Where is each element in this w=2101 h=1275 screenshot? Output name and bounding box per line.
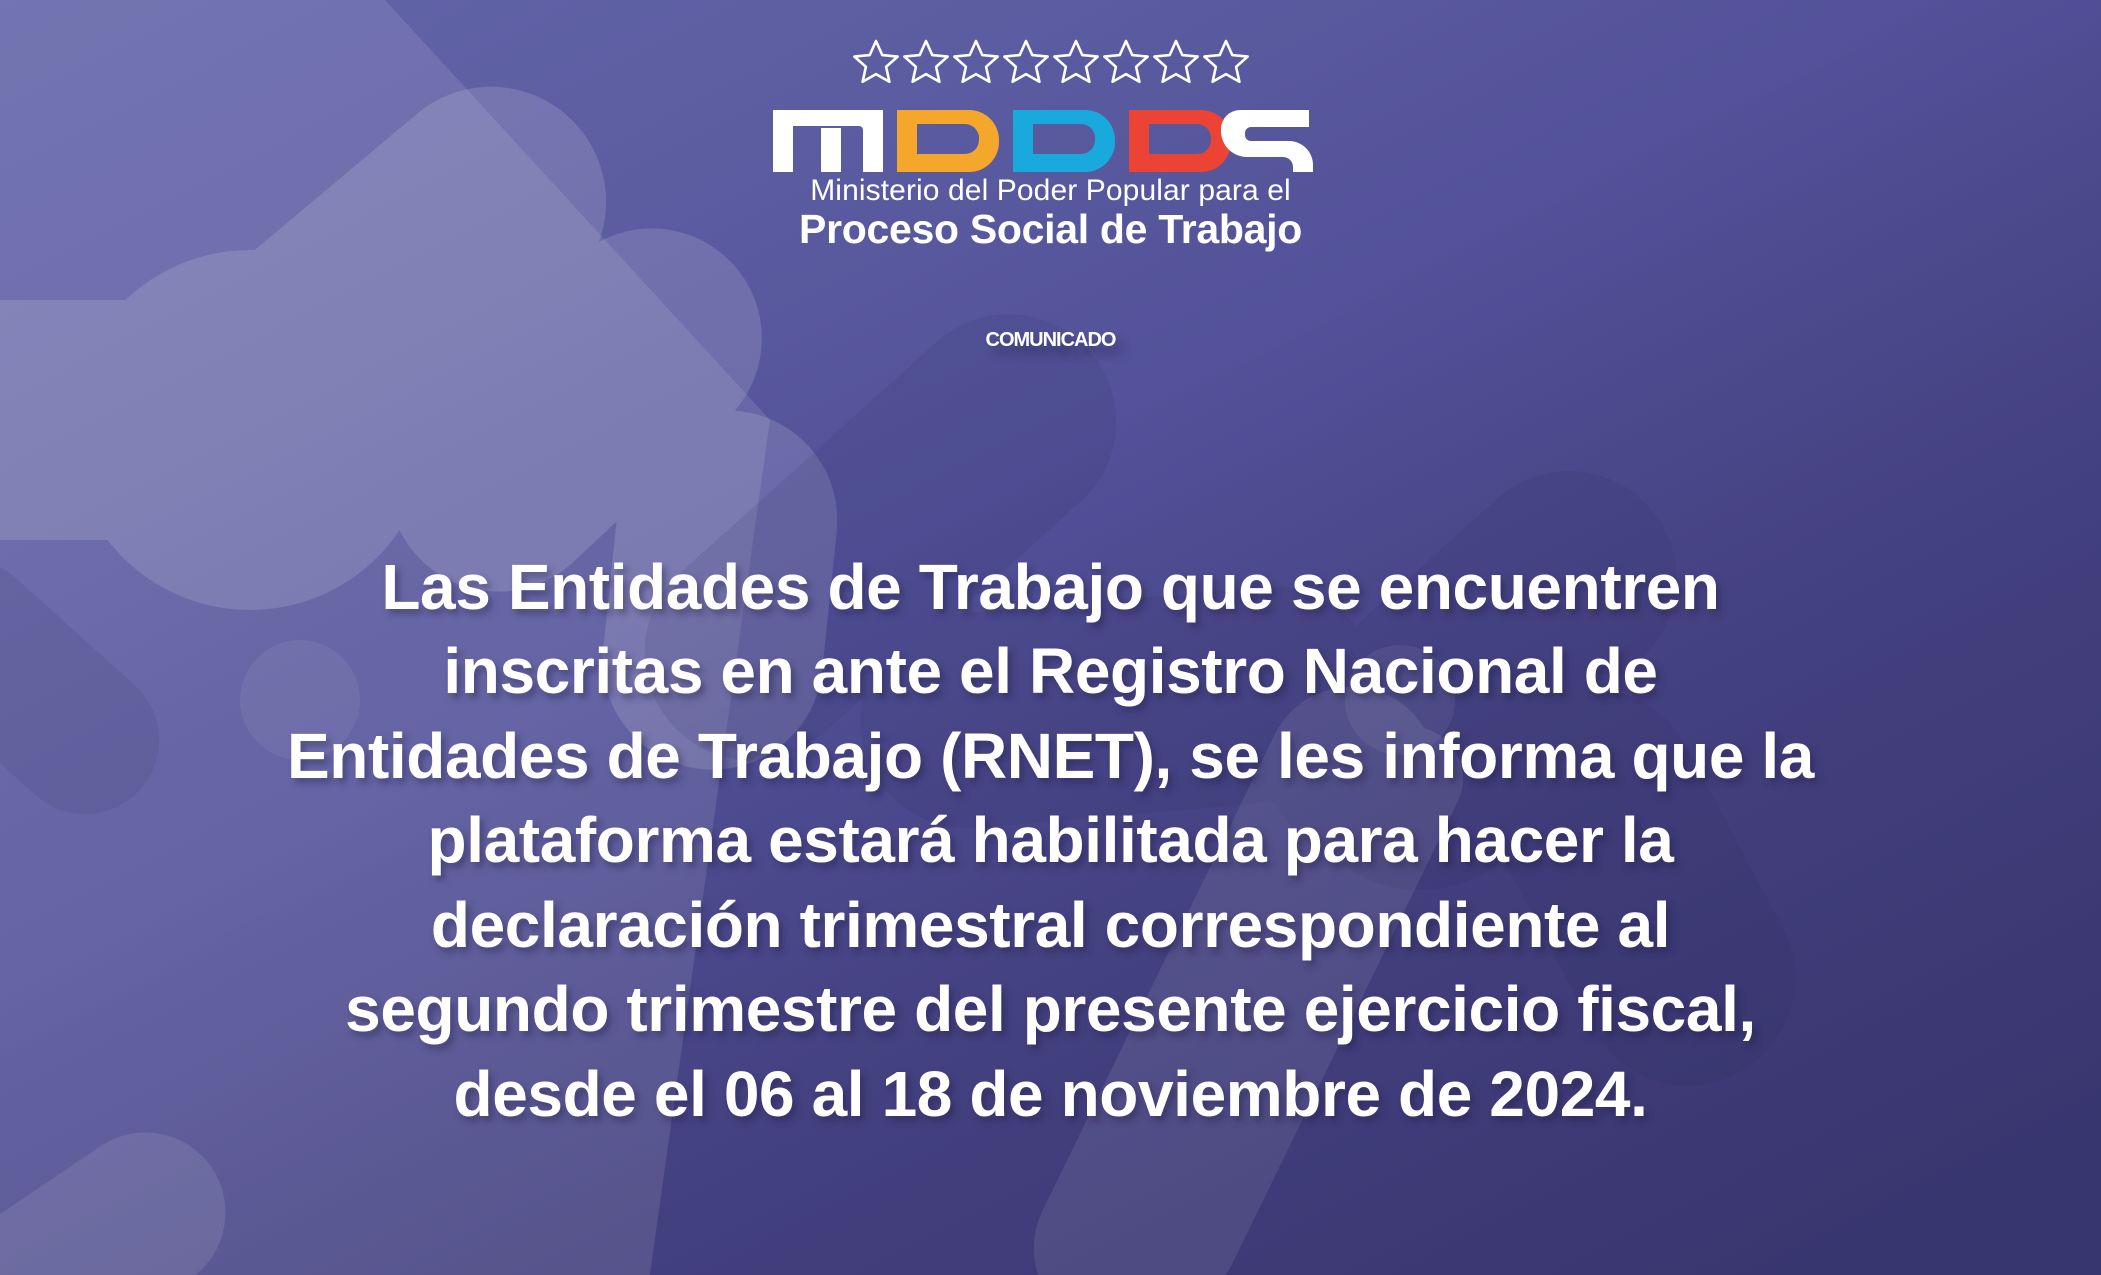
ministry-logo: Ministerio del Poder Popular para el Pro… [0, 38, 2101, 250]
star-outline-icon [951, 38, 1001, 86]
stars-row [851, 38, 1251, 86]
star-outline-icon [851, 38, 901, 86]
announcement-body: Las Entidades de Trabajo que se encuentr… [90, 545, 2011, 1136]
star-outline-icon [1001, 38, 1051, 86]
star-outline-icon [1201, 38, 1251, 86]
star-outline-icon [1101, 38, 1151, 86]
star-outline-icon [901, 38, 951, 86]
logo-wordmark-mpppst [773, 90, 1329, 172]
body-line: plataforma estará habilitada para hacer … [90, 798, 2011, 882]
body-line: desde el 06 al 18 de noviembre de 2024. [90, 1052, 2011, 1136]
star-outline-icon [1151, 38, 1201, 86]
star-outline-icon [1051, 38, 1101, 86]
logo-letter-t [1271, 110, 1329, 127]
logo-tagline-line1: Ministerio del Poder Popular para el [799, 176, 1302, 206]
body-line: declaración trimestral correspondiente a… [90, 883, 2011, 967]
logo-letter-m [773, 110, 883, 172]
logo-letter-p-blue [1013, 110, 1115, 172]
logo-tagline: Ministerio del Poder Popular para el Pro… [799, 176, 1302, 250]
logo-letter-p-red [1129, 110, 1231, 172]
logo-letter-p-orange [897, 110, 999, 172]
comunicado-poster: Ministerio del Poder Popular para el Pro… [0, 0, 2101, 1275]
body-line: Las Entidades de Trabajo que se encuentr… [90, 545, 2011, 629]
page-title: COMUNICADO [0, 330, 2101, 350]
body-line: Entidades de Trabajo (RNET), se les info… [90, 714, 2011, 798]
body-line: segundo trimestre del presente ejercicio… [90, 967, 2011, 1051]
logo-tagline-line2: Proceso Social de Trabajo [799, 209, 1302, 250]
body-line: inscritas en ante el Registro Nacional d… [90, 629, 2011, 713]
